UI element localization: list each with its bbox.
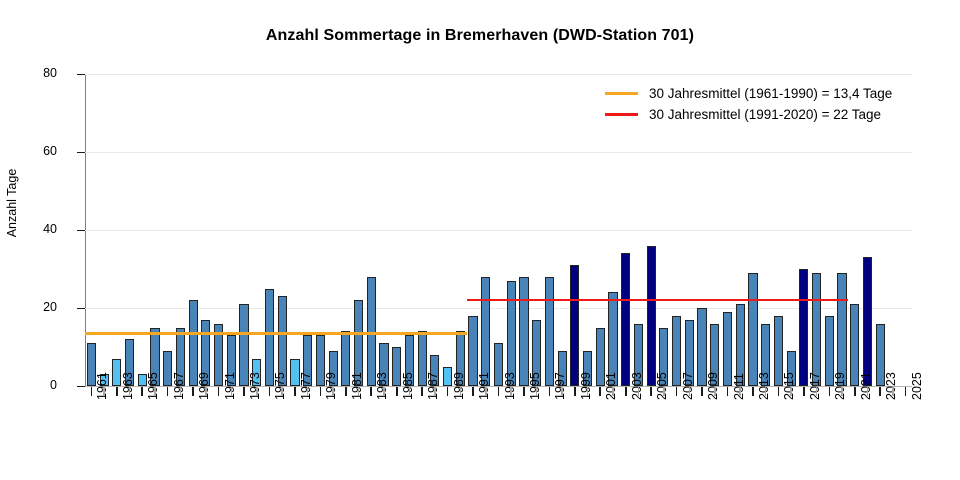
x-tick-1980 (332, 387, 334, 396)
chart-title: Anzahl Sommertage in Bremerhaven (DWD-St… (0, 27, 960, 45)
x-tick-2011 (727, 387, 729, 396)
x-tick-1969 (192, 387, 194, 396)
x-tick-1966 (154, 387, 156, 396)
x-tick-1961 (91, 387, 93, 396)
bar-1993[interactable] (494, 343, 503, 386)
chart-container: Anzahl Sommertage in Bremerhaven (DWD-St… (0, 0, 960, 480)
x-tick-2025 (905, 387, 907, 396)
x-tick-1979 (320, 387, 322, 396)
x-tick-2015 (778, 387, 780, 396)
bar-2003[interactable] (621, 253, 630, 386)
x-tick-2002 (612, 387, 614, 396)
y-axis-label-20: 20 (17, 301, 57, 313)
x-tick-1976 (281, 387, 283, 396)
x-tick-2010 (714, 387, 716, 396)
x-tick-1981 (345, 387, 347, 396)
x-tick-1988 (434, 387, 436, 396)
y-tick-60 (77, 152, 85, 153)
x-tick-2004 (638, 387, 640, 396)
bar-1983[interactable] (367, 277, 376, 386)
x-tick-2003 (625, 387, 627, 396)
x-tick-2013 (752, 387, 754, 396)
x-tick-1962 (103, 387, 105, 396)
y-axis-label-80: 80 (17, 67, 57, 79)
x-tick-1978 (307, 387, 309, 396)
x-tick-1991 (472, 387, 474, 396)
x-tick-1986 (409, 387, 411, 396)
y-tick-40 (77, 230, 85, 231)
bar-2013[interactable] (748, 273, 757, 386)
x-tick-2021 (854, 387, 856, 396)
legend-swatch-line-icon (605, 92, 638, 95)
x-tick-1965 (141, 387, 143, 396)
x-tick-2017 (803, 387, 805, 396)
x-tick-1993 (498, 387, 500, 396)
bar-2018[interactable] (812, 273, 821, 386)
y-axis-label-40: 40 (17, 223, 57, 235)
x-tick-1998 (561, 387, 563, 396)
bar-1999[interactable] (570, 265, 579, 386)
bar-2020[interactable] (837, 273, 846, 386)
bar-2022[interactable] (863, 257, 872, 386)
x-tick-1963 (116, 387, 118, 396)
x-tick-1967 (167, 387, 169, 396)
x-tick-1968 (180, 387, 182, 396)
x-tick-1984 (383, 387, 385, 396)
bar-1967[interactable] (163, 351, 172, 386)
x-tick-1987 (421, 387, 423, 396)
x-tick-1964 (129, 387, 131, 396)
x-tick-1975 (269, 387, 271, 396)
y-axis-title: Anzahl Tage (5, 113, 19, 293)
x-tick-2000 (587, 387, 589, 396)
gridline-60 (85, 152, 912, 153)
bar-2005[interactable] (647, 246, 656, 386)
y-axis-label-0: 0 (17, 379, 57, 391)
x-tick-2023 (879, 387, 881, 396)
y-axis-label-60: 60 (17, 145, 57, 157)
legend-label: 30 Jahresmittel (1961-1990) = 13,4 Tage (649, 86, 892, 101)
x-tick-2005 (650, 387, 652, 396)
chart-legend: 30 Jahresmittel (1961-1990) = 13,4 Tage3… (605, 83, 892, 125)
x-tick-2008 (689, 387, 691, 396)
bar-2007[interactable] (672, 316, 681, 386)
x-tick-2024 (892, 387, 894, 396)
bar-1989[interactable] (443, 367, 452, 387)
x-tick-1973 (243, 387, 245, 396)
x-tick-1972 (231, 387, 233, 396)
gridline-20 (85, 308, 912, 309)
x-tick-2022 (867, 387, 869, 396)
bar-1994[interactable] (507, 281, 516, 386)
x-tick-1997 (549, 387, 551, 396)
y-tick-0 (77, 386, 85, 387)
bar-1963[interactable] (112, 359, 121, 386)
y-tick-80 (77, 74, 85, 75)
legend-item-1[interactable]: 30 Jahresmittel (1961-1990) = 13,4 Tage (605, 83, 892, 104)
bar-1992[interactable] (481, 277, 490, 386)
x-tick-1995 (523, 387, 525, 396)
x-tick-1990 (460, 387, 462, 396)
reference-line-1 (85, 332, 467, 335)
bar-1985[interactable] (392, 347, 401, 386)
gridline-80 (85, 74, 912, 75)
x-tick-1974 (256, 387, 258, 396)
x-tick-2020 (841, 387, 843, 396)
bar-2017[interactable] (799, 269, 808, 386)
x-tick-1994 (510, 387, 512, 396)
x-tick-1989 (447, 387, 449, 396)
y-tick-20 (77, 308, 85, 309)
x-tick-1982 (358, 387, 360, 396)
x-tick-1999 (574, 387, 576, 396)
bar-2011[interactable] (723, 312, 732, 386)
x-tick-1992 (485, 387, 487, 396)
legend-label: 30 Jahresmittel (1991-2020) = 22 Tage (649, 107, 881, 122)
x-tick-1970 (205, 387, 207, 396)
x-tick-2014 (765, 387, 767, 396)
x-tick-2007 (676, 387, 678, 396)
legend-item-2[interactable]: 30 Jahresmittel (1991-2020) = 22 Tage (605, 104, 892, 125)
x-tick-2006 (663, 387, 665, 396)
x-tick-2009 (701, 387, 703, 396)
legend-swatch-line-icon (605, 113, 638, 116)
x-tick-2016 (790, 387, 792, 396)
x-axis-label-2025: 2025 (911, 372, 924, 400)
gridline-40 (85, 230, 912, 231)
x-tick-2018 (816, 387, 818, 396)
x-tick-1996 (536, 387, 538, 396)
x-tick-2019 (829, 387, 831, 396)
x-tick-1977 (294, 387, 296, 396)
x-tick-2001 (599, 387, 601, 396)
x-tick-1971 (218, 387, 220, 396)
bar-2021[interactable] (850, 304, 859, 386)
bar-1997[interactable] (545, 277, 554, 386)
x-tick-1983 (370, 387, 372, 396)
x-tick-1985 (396, 387, 398, 396)
x-tick-2012 (739, 387, 741, 396)
reference-line-2 (467, 299, 849, 302)
bar-1995[interactable] (519, 277, 528, 386)
